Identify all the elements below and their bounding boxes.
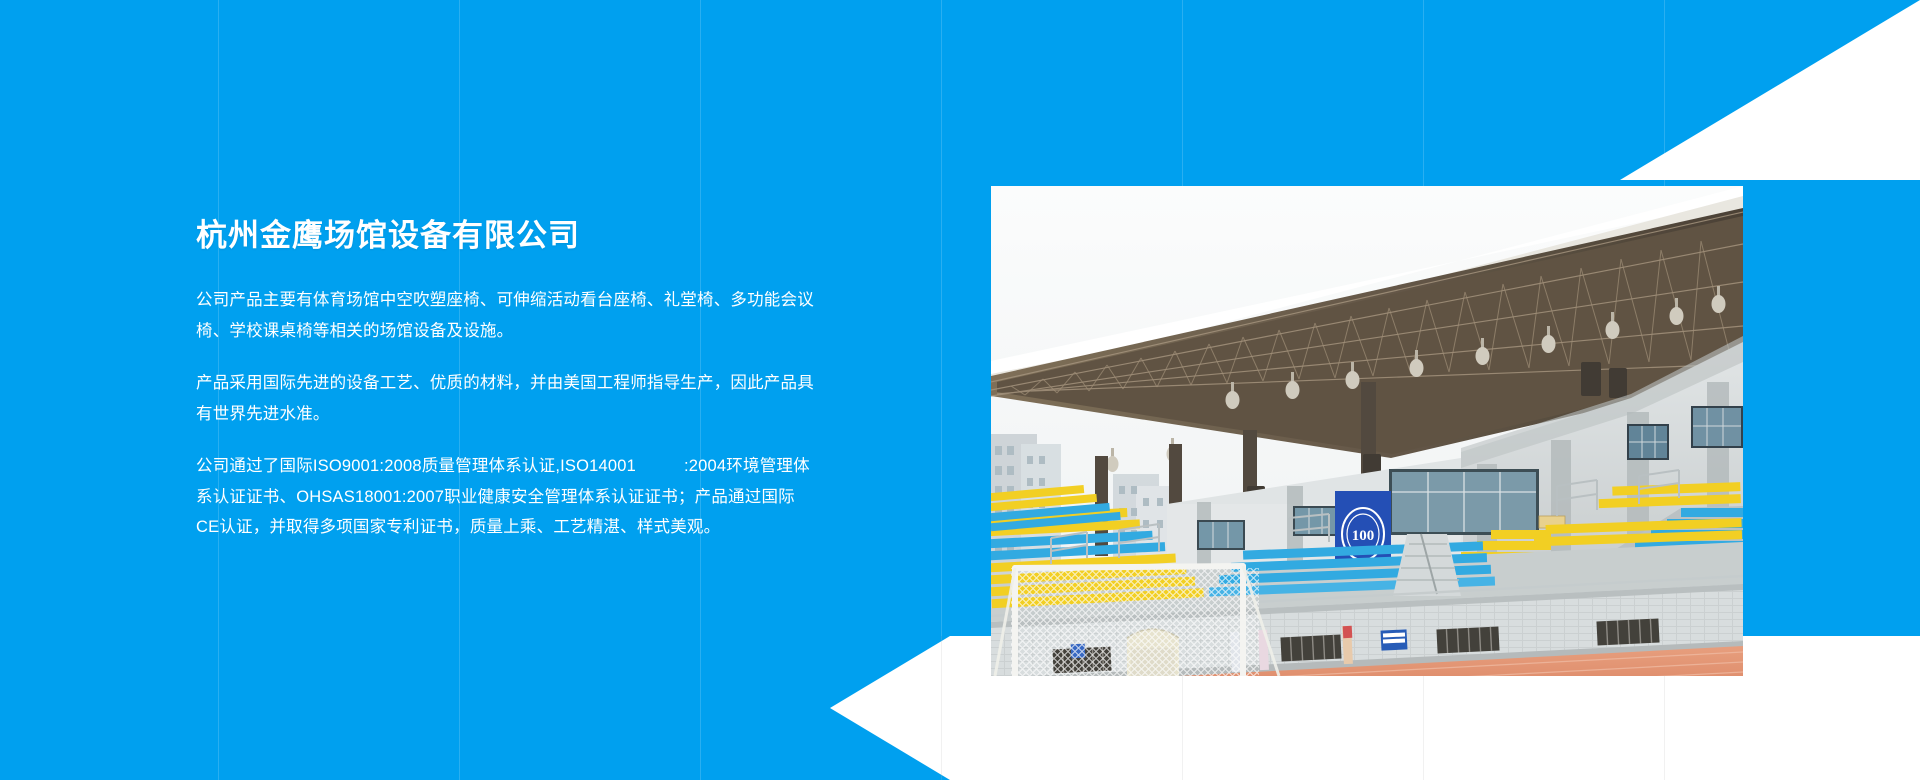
page-title: 杭州金鹰场馆设备有限公司 — [196, 218, 816, 255]
decor-diagonal-top-right — [1620, 0, 1920, 180]
stadium-photo: 100 — [991, 186, 1743, 676]
intro-paragraph-products: 公司产品主要有体育场馆中空吹塑座椅、可伸缩活动看台座椅、礼堂椅、多功能会议椅、学… — [196, 285, 816, 346]
intro-paragraph-certifications: 公司通过了国际ISO9001:2008质量管理体系认证,ISO14001:200… — [196, 451, 816, 543]
cert-text-part-one: 公司通过了国际ISO9001:2008质量管理体系认证,ISO14001 — [196, 457, 636, 475]
stadium-illustration: 100 — [991, 186, 1743, 676]
company-intro-block: 杭州金鹰场馆设备有限公司 公司产品主要有体育场馆中空吹塑座椅、可伸缩活动看台座椅… — [196, 218, 816, 543]
hero-banner: 杭州金鹰场馆设备有限公司 公司产品主要有体育场馆中空吹塑座椅、可伸缩活动看台座椅… — [0, 0, 1920, 780]
intro-paragraph-quality: 产品采用国际先进的设备工艺、优质的材料，并由美国工程师指导生产，因此产品具有世界… — [196, 368, 816, 429]
